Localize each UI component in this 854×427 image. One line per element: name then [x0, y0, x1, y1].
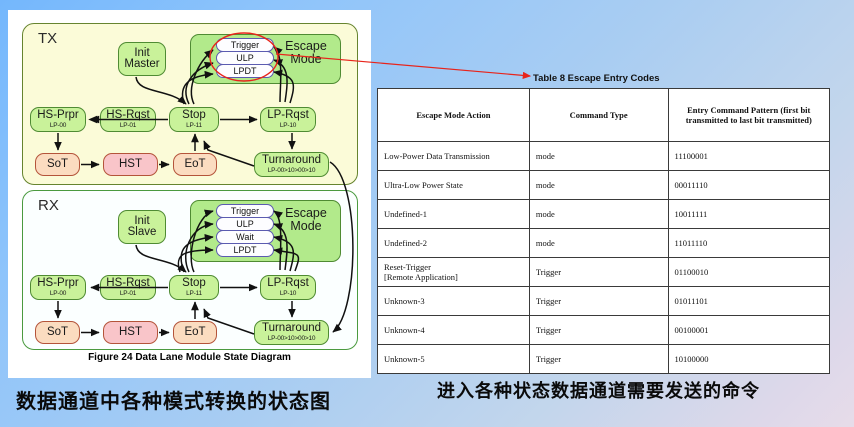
cell-action: Unknown-4 [378, 316, 530, 345]
cell-type: Trigger [529, 316, 668, 345]
rx-turnaround-sub: LP-00>10>00>10 [268, 336, 316, 343]
cell-pattern: 10100000 [668, 345, 829, 374]
cell-type: mode [529, 171, 668, 200]
rx-node-hs-prpr[interactable]: HS-Prpr LP-00 [30, 275, 86, 300]
tx-escape-label-line2: Mode [290, 52, 321, 66]
table-row: Low-Power Data Transmissionmode11100001 [378, 142, 830, 171]
rx-node-turnaround[interactable]: Turnaround LP-00>10>00>10 [254, 320, 329, 345]
cell-pattern: 00100001 [668, 316, 829, 345]
tx-node-hs-prpr[interactable]: HS-Prpr LP-00 [30, 107, 86, 132]
th-escape-mode-action: Escape Mode Action [378, 89, 530, 142]
rx-escape-item-ulp[interactable]: ULP [216, 217, 274, 231]
tx-sot-title: SoT [47, 159, 68, 171]
cell-pattern: 11100001 [668, 142, 829, 171]
state-diagram-figure: TX Escape Mode Trigger ULP LPDT Init Mas… [8, 10, 371, 378]
cell-action: Unknown-3 [378, 287, 530, 316]
table-row: Undefined-2mode11011110 [378, 229, 830, 258]
rx-escape-mode-label: Escape Mode [276, 207, 336, 233]
cell-pattern: 01011101 [668, 287, 829, 316]
rx-node-hs-rqst[interactable]: HS-Rqst LP-01 [100, 275, 156, 300]
tx-group-label: TX [38, 30, 57, 47]
cell-type: Trigger [529, 287, 668, 316]
table-row: Reset-Trigger[Remote Application]Trigger… [378, 258, 830, 287]
tx-escape-mode-label: Escape Mode [276, 40, 336, 66]
rx-hs-rqst-title: HS-Rqst [106, 278, 149, 290]
cell-type: mode [529, 142, 668, 171]
rx-escape-label-line1: Escape [285, 206, 327, 220]
tx-node-turnaround[interactable]: Turnaround LP-00>10>00>10 [254, 152, 329, 177]
rx-init-line2: Slave [128, 227, 157, 239]
rx-lp-rqst-sub: LP-10 [280, 291, 296, 298]
table-row: Undefined-1mode10011111 [378, 200, 830, 229]
tx-hs-rqst-sub: LP-01 [120, 123, 136, 130]
tx-node-hst[interactable]: HST [103, 153, 158, 176]
rx-node-hst[interactable]: HST [103, 321, 158, 344]
cell-action: Unknown-5 [378, 345, 530, 374]
rx-escape-item-lpdt[interactable]: LPDT [216, 243, 274, 257]
cell-action: Undefined-2 [378, 229, 530, 258]
cell-action: Ultra-Low Power State [378, 171, 530, 200]
rx-escape-item-wait[interactable]: Wait [216, 230, 274, 244]
tx-node-init-master[interactable]: Init Master [118, 42, 166, 76]
tx-hs-prpr-sub: LP-00 [50, 123, 66, 130]
rx-hs-rqst-sub: LP-01 [120, 291, 136, 298]
rx-node-lp-rqst[interactable]: LP-Rqst LP-10 [260, 275, 316, 300]
tx-stop-title: Stop [182, 110, 206, 122]
rx-sot-title: SoT [47, 327, 68, 339]
rx-hst-title: HST [119, 327, 142, 339]
tx-init-line2: Master [124, 59, 159, 71]
rx-hs-prpr-title: HS-Prpr [37, 278, 79, 290]
table-row: Unknown-5Trigger10100000 [378, 345, 830, 374]
tx-node-hs-rqst[interactable]: HS-Rqst LP-01 [100, 107, 156, 132]
rx-node-eot[interactable]: EoT [173, 321, 217, 344]
rx-stop-sub: LP-11 [186, 291, 202, 298]
cell-type: mode [529, 200, 668, 229]
caption-left: 数据通道中各种模式转换的状态图 [16, 385, 331, 414]
tx-escape-item-lpdt[interactable]: LPDT [216, 64, 274, 78]
rx-escape-label-line2: Mode [290, 219, 321, 233]
rx-eot-title: EoT [184, 327, 205, 339]
rx-escape-item-trigger[interactable]: Trigger [216, 204, 274, 218]
table-header-row: Escape Mode Action Command Type Entry Co… [378, 89, 830, 142]
rx-hs-prpr-sub: LP-00 [50, 291, 66, 298]
rx-node-sot[interactable]: SoT [35, 321, 80, 344]
cell-pattern: 01100010 [668, 258, 829, 287]
slide-canvas: TX Escape Mode Trigger ULP LPDT Init Mas… [0, 0, 854, 427]
cell-action: Reset-Trigger[Remote Application] [378, 258, 530, 287]
tx-node-eot[interactable]: EoT [173, 153, 217, 176]
cell-pattern: 10011111 [668, 200, 829, 229]
cell-type: Trigger [529, 345, 668, 374]
rx-stop-title: Stop [182, 278, 206, 290]
cell-action: Low-Power Data Transmission [378, 142, 530, 171]
tx-escape-item-ulp[interactable]: ULP [216, 51, 274, 65]
tx-hs-rqst-title: HS-Rqst [106, 110, 149, 122]
table-row: Ultra-Low Power Statemode00011110 [378, 171, 830, 200]
tx-escape-item-trigger[interactable]: Trigger [216, 38, 274, 52]
cell-type: mode [529, 229, 668, 258]
tx-eot-title: EoT [184, 159, 205, 171]
th-entry-command-pattern: Entry Command Pattern (first bit transmi… [668, 89, 829, 142]
tx-turnaround-title: Turnaround [262, 155, 321, 167]
caption-right: 进入各种状态数据通道需要发送的命令 [437, 377, 760, 403]
table-row: Unknown-4Trigger00100001 [378, 316, 830, 345]
tx-hs-prpr-title: HS-Prpr [37, 110, 79, 122]
rx-node-stop[interactable]: Stop LP-11 [169, 275, 219, 300]
tx-hst-title: HST [119, 159, 142, 171]
rx-turnaround-title: Turnaround [262, 323, 321, 335]
cell-action: Undefined-1 [378, 200, 530, 229]
cell-pattern: 00011110 [668, 171, 829, 200]
figure-caption: Figure 24 Data Lane Module State Diagram [8, 352, 371, 363]
rx-node-init-slave[interactable]: Init Slave [118, 210, 166, 244]
tx-node-sot[interactable]: SoT [35, 153, 80, 176]
tx-turnaround-sub: LP-00>10>00>10 [268, 168, 316, 175]
th-command-type: Command Type [529, 89, 668, 142]
table-row: Unknown-3Trigger01011101 [378, 287, 830, 316]
tx-node-stop[interactable]: Stop LP-11 [169, 107, 219, 132]
tx-escape-label-line1: Escape [285, 39, 327, 53]
table-body: Low-Power Data Transmissionmode11100001U… [378, 142, 830, 374]
tx-lp-rqst-title: LP-Rqst [267, 110, 309, 122]
tx-lp-rqst-sub: LP-10 [280, 123, 296, 130]
escape-entry-codes-table: Escape Mode Action Command Type Entry Co… [377, 88, 830, 374]
rx-group-label: RX [38, 197, 59, 214]
table-title: Table 8 Escape Entry Codes [533, 73, 660, 84]
tx-stop-sub: LP-11 [186, 123, 202, 130]
tx-node-lp-rqst[interactable]: LP-Rqst LP-10 [260, 107, 316, 132]
cell-pattern: 11011110 [668, 229, 829, 258]
cell-type: Trigger [529, 258, 668, 287]
rx-lp-rqst-title: LP-Rqst [267, 278, 309, 290]
